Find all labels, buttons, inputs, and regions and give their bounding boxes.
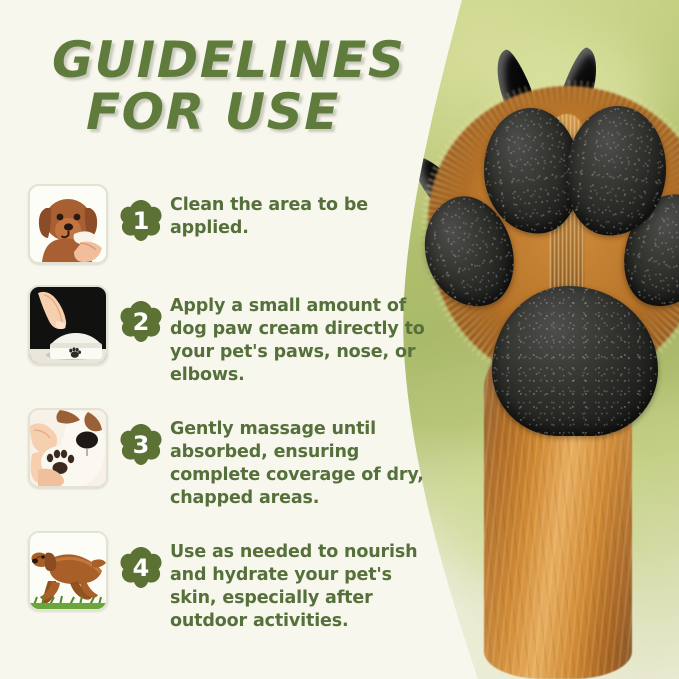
running-dog-icon [28,531,108,611]
step-badge: 3 [118,422,164,468]
step-number: 4 [118,545,164,591]
step-text: Clean the area to be applied. [170,184,428,240]
dog-being-wiped-icon [28,184,108,264]
list-item: 2 Apply a small amount of dog paw cream … [28,285,428,387]
dog-paw-photo [418,48,679,679]
step-badge: 1 [118,198,164,244]
step-badge: 2 [118,299,164,345]
finger-dipping-cream-jar-icon [28,285,108,365]
title-line-2: FOR USE [52,86,422,138]
list-item: 4 Use as needed to nourish and hydrate y… [28,531,428,633]
list-item: 1 Clean the area to be applied. [28,184,428,264]
step-badge: 4 [118,545,164,591]
paw-pad-cluster [418,48,679,378]
guidelines-poster: GUIDELINES FOR USE [0,0,679,679]
step-text: Gently massage until absorbed, ensuring … [170,408,428,510]
hands-massaging-paw-icon [28,408,108,488]
steps-list: 1 Clean the area to be applied. [28,184,428,654]
step-number: 3 [118,422,164,468]
step-text: Apply a small amount of dog paw cream di… [170,285,428,387]
instructions-panel: GUIDELINES FOR USE [0,0,440,679]
page-title: GUIDELINES FOR USE [52,34,422,138]
step-number: 2 [118,299,164,345]
step-text: Use as needed to nourish and hydrate you… [170,531,428,633]
list-item: 3 Gently massage until absorbed, ensurin… [28,408,428,510]
step-number: 1 [118,198,164,244]
title-line-1: GUIDELINES [52,34,422,86]
